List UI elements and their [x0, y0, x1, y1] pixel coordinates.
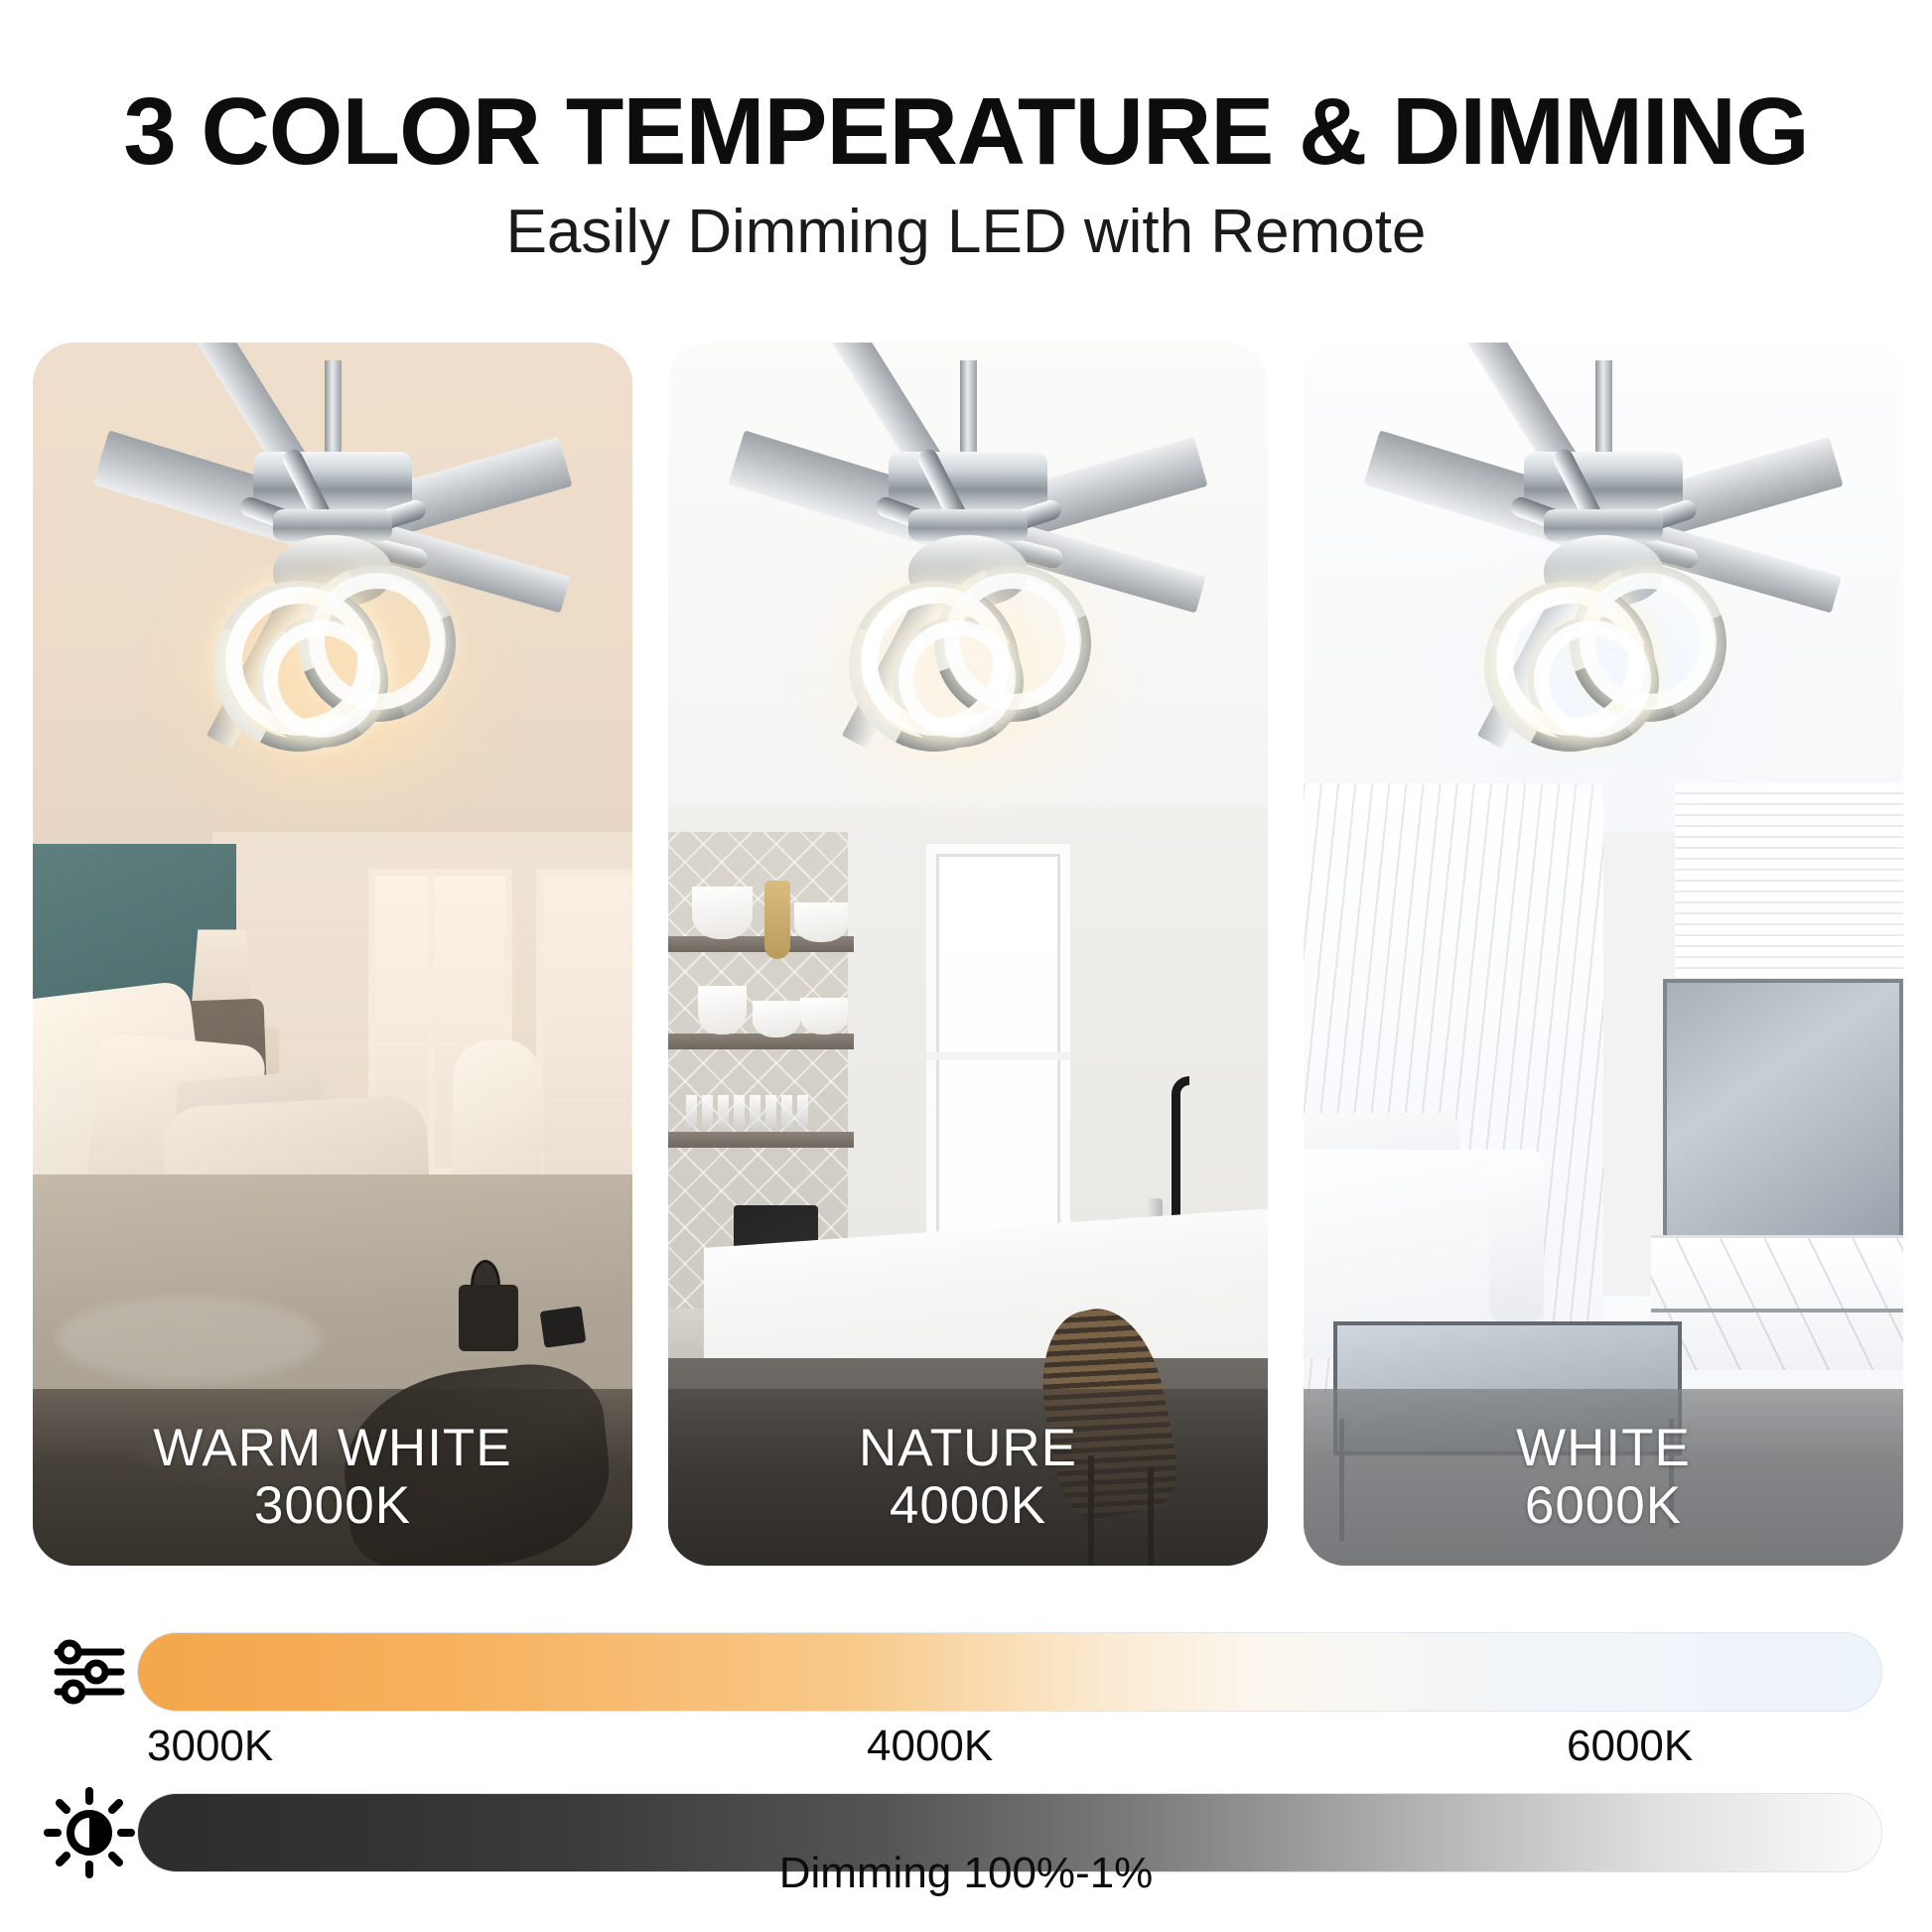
bowl — [800, 998, 848, 1035]
panel-warm-white: WARM WHITE 3000K — [33, 343, 632, 1566]
fan-motor-housing — [1524, 452, 1683, 513]
caption-kelvin: 4000K — [890, 1476, 1046, 1535]
fan-downrod — [1595, 360, 1612, 456]
dimming-caption: Dimming 100%-1% — [0, 1849, 1932, 1898]
led-ring — [263, 621, 380, 738]
fan-downrod — [960, 360, 977, 456]
caption-name: WHITE — [1516, 1420, 1691, 1476]
window-sash — [926, 1052, 1070, 1060]
cct-gradient-bar[interactable] — [137, 1632, 1882, 1712]
bowl — [692, 887, 752, 939]
caption-name: NATURE — [859, 1420, 1077, 1476]
cct-tick-6000k: 6000K — [1567, 1722, 1693, 1771]
caption-name: WARM WHITE — [153, 1420, 511, 1476]
cct-tick-4000k: 4000K — [867, 1722, 993, 1771]
panel-caption: WARM WHITE 3000K — [33, 1389, 632, 1566]
fan-motor-housing — [889, 452, 1047, 513]
panel-white: WHITE 6000K — [1304, 343, 1903, 1566]
page-subtitle: Easily Dimming LED with Remote — [0, 197, 1932, 267]
ceiling-fan — [55, 360, 611, 777]
panel-caption: NATURE 4000K — [668, 1389, 1268, 1566]
ceiling-fan — [690, 360, 1246, 777]
bowl — [698, 986, 746, 1035]
color-temperature-panels: WARM WHITE 3000K — [33, 343, 1903, 1566]
led-ring — [898, 621, 1016, 738]
cct-scale — [0, 1632, 1932, 1712]
wall-tv — [1663, 979, 1903, 1248]
cct-tick-3000k: 3000K — [147, 1722, 273, 1771]
fan-downrod — [325, 360, 342, 456]
console-drawer-line — [1651, 1309, 1903, 1312]
page-title: 3 COLOR TEMPERATURE & DIMMING — [0, 77, 1932, 187]
bowl — [794, 902, 848, 941]
caption-kelvin: 6000K — [1525, 1476, 1682, 1535]
shelf — [668, 1034, 854, 1049]
sofa-arm — [1489, 1150, 1543, 1320]
ceiling-fan — [1325, 360, 1881, 777]
sliders-icon — [42, 1624, 137, 1720]
cct-tick-labels: 3000K 4000K 6000K — [0, 1722, 1932, 1777]
wine-glass-row — [686, 1095, 848, 1138]
bowl — [753, 1001, 800, 1037]
panel-caption: WHITE 6000K — [1304, 1389, 1903, 1566]
panel-nature: NATURE 4000K — [668, 343, 1268, 1566]
infographic-page: 3 COLOR TEMPERATURE & DIMMING Easily Dim… — [0, 0, 1932, 1932]
vase — [764, 881, 791, 959]
led-ring — [1534, 621, 1651, 738]
marble-console — [1651, 1235, 1903, 1370]
fan-motor-housing — [253, 452, 412, 513]
white-brick-wall — [1675, 783, 1903, 1004]
caption-kelvin: 3000K — [254, 1476, 411, 1535]
